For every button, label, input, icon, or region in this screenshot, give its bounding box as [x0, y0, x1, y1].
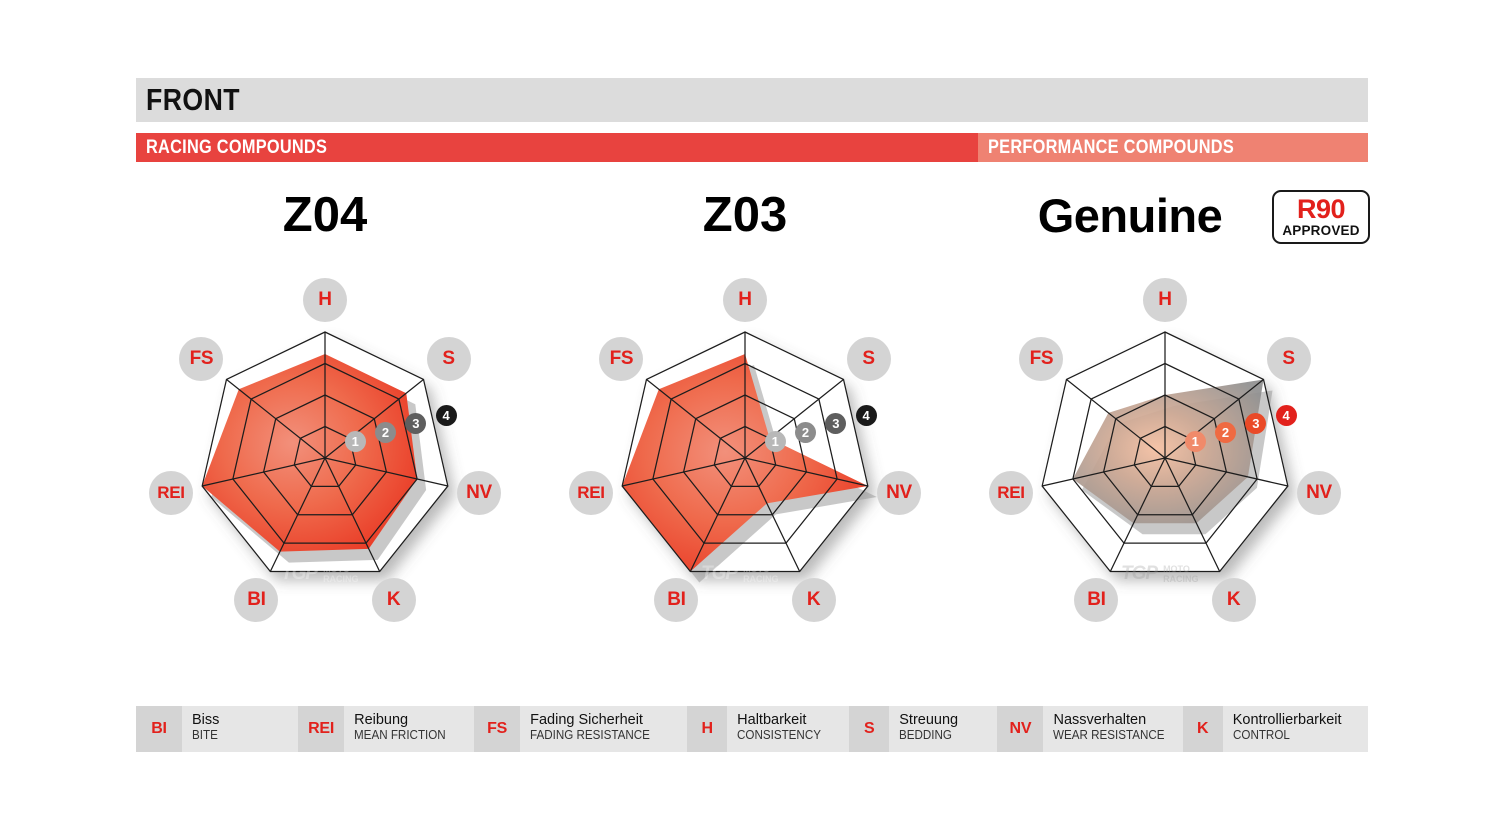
radar-axis-label-rei: REI: [989, 471, 1033, 515]
radar-axis-label-k: K: [1212, 578, 1256, 622]
legend-abbr-fs: FS: [474, 706, 520, 752]
radar-axis-label-nv: NV: [877, 471, 921, 515]
legend-item-bi: BIBissBITE: [136, 706, 298, 752]
legend-text: BissBITE: [182, 706, 220, 752]
band-performance-compounds: PERFORMANCE COMPOUNDS: [978, 133, 1368, 162]
legend-term-en: FADING RESISTANCE: [530, 728, 650, 743]
band-racing-compounds: RACING COMPOUNDS: [136, 133, 978, 162]
legend-item-fs: FSFading SicherheitFADING RESISTANCE: [474, 706, 687, 752]
legend-item-nv: NVNassverhaltenWEAR RESISTANCE: [997, 706, 1182, 752]
legend-term-de: Kontrollierbarkeit: [1233, 712, 1342, 728]
legend-abbr-nv: NV: [997, 706, 1043, 752]
compound-comparison-sheet: FRONT RACING COMPOUNDS PERFORMANCE COMPO…: [0, 0, 1500, 820]
legend-term-en: MEAN FRICTION: [354, 728, 446, 743]
legend-term-de: Reibung: [354, 712, 453, 728]
legend-abbr-rei: REI: [298, 706, 344, 752]
r90-badge-sub: APPROVED: [1282, 224, 1359, 238]
legend-bar: BIBissBITEREIReibungMEAN FRICTIONFSFadin…: [136, 706, 1368, 752]
radar-chart-z04: HSNVKBIREIFS1234TGPMOTORACING: [125, 262, 525, 658]
page-title: FRONT: [146, 82, 240, 118]
legend-term-de: Haltbarkeit: [737, 712, 827, 728]
legend-item-k: KKontrollierbarkeitCONTROL: [1183, 706, 1368, 752]
legend-term-de: Biss: [192, 712, 220, 728]
radar-axis-label-s: S: [427, 337, 471, 381]
legend-text: StreuungBEDDING: [889, 706, 958, 752]
legend-abbr-bi: BI: [136, 706, 182, 752]
product-title-z04: Z04: [180, 186, 470, 244]
r90-badge-main: R90: [1297, 196, 1345, 223]
legend-term-en: CONSISTENCY: [737, 728, 821, 743]
legend-term-en: BEDDING: [899, 728, 954, 743]
legend-text: ReibungMEAN FRICTION: [344, 706, 453, 752]
radar-axis-label-k: K: [792, 578, 836, 622]
product-title-z04-text: Z04: [283, 187, 367, 243]
header-title-bar: FRONT: [136, 78, 1368, 122]
radar-axis-label-s: S: [1267, 337, 1311, 381]
legend-term-de: Fading Sicherheit: [530, 712, 659, 728]
product-title-genuine-text: Genuine: [1038, 188, 1223, 243]
legend-term-en: WEAR RESISTANCE: [1053, 728, 1165, 743]
legend-term-en: CONTROL: [1233, 728, 1334, 743]
band-performance-label: PERFORMANCE COMPOUNDS: [988, 137, 1234, 159]
legend-abbr-h: H: [687, 706, 727, 752]
legend-item-rei: REIReibungMEAN FRICTION: [298, 706, 474, 752]
radar-scale-badge-4: 4: [856, 405, 877, 426]
legend-term-de: Nassverhalten: [1053, 712, 1173, 728]
legend-text: KontrollierbarkeitCONTROL: [1223, 706, 1342, 752]
product-title-z03-text: Z03: [703, 187, 787, 243]
radar-axis-label-h: H: [303, 278, 347, 322]
r90-approved-badge: R90 APPROVED: [1272, 190, 1370, 244]
legend-item-s: SStreuungBEDDING: [849, 706, 997, 752]
product-title-genuine: Genuine: [1000, 186, 1260, 244]
product-title-z03: Z03: [600, 186, 890, 244]
radar-scale-badge-1: 1: [765, 431, 786, 452]
radar-axis-label-h: H: [1143, 278, 1187, 322]
legend-abbr-s: S: [849, 706, 889, 752]
radar-axis-label-s: S: [847, 337, 891, 381]
radar-scale-badge-1: 1: [345, 431, 366, 452]
radar-scale-badge-1: 1: [1185, 431, 1206, 452]
legend-term-en: BITE: [192, 728, 218, 743]
radar-axis-label-rei: REI: [569, 471, 613, 515]
radar-axis-label-nv: NV: [1297, 471, 1341, 515]
radar-axis-label-h: H: [723, 278, 767, 322]
radar-chart-z03: HSNVKBIREIFS1234TGPMOTORACING: [545, 262, 945, 658]
radar-axis-label-rei: REI: [149, 471, 193, 515]
radar-axis-label-nv: NV: [457, 471, 501, 515]
radar-axis-label-k: K: [372, 578, 416, 622]
legend-term-de: Streuung: [899, 712, 958, 728]
radar-scale-badge-4: 4: [1276, 405, 1297, 426]
legend-text: HaltbarkeitCONSISTENCY: [727, 706, 827, 752]
header-category-bands: RACING COMPOUNDS PERFORMANCE COMPOUNDS: [136, 133, 1368, 162]
legend-text: Fading SicherheitFADING RESISTANCE: [520, 706, 659, 752]
radar-chart-genuine: HSNVKBIREIFS1234TGPMOTORACING: [965, 262, 1365, 658]
legend-abbr-k: K: [1183, 706, 1223, 752]
legend-item-h: HHaltbarkeitCONSISTENCY: [687, 706, 849, 752]
band-racing-label: RACING COMPOUNDS: [146, 137, 327, 159]
legend-text: NassverhaltenWEAR RESISTANCE: [1043, 706, 1173, 752]
radar-scale-badge-4: 4: [436, 405, 457, 426]
